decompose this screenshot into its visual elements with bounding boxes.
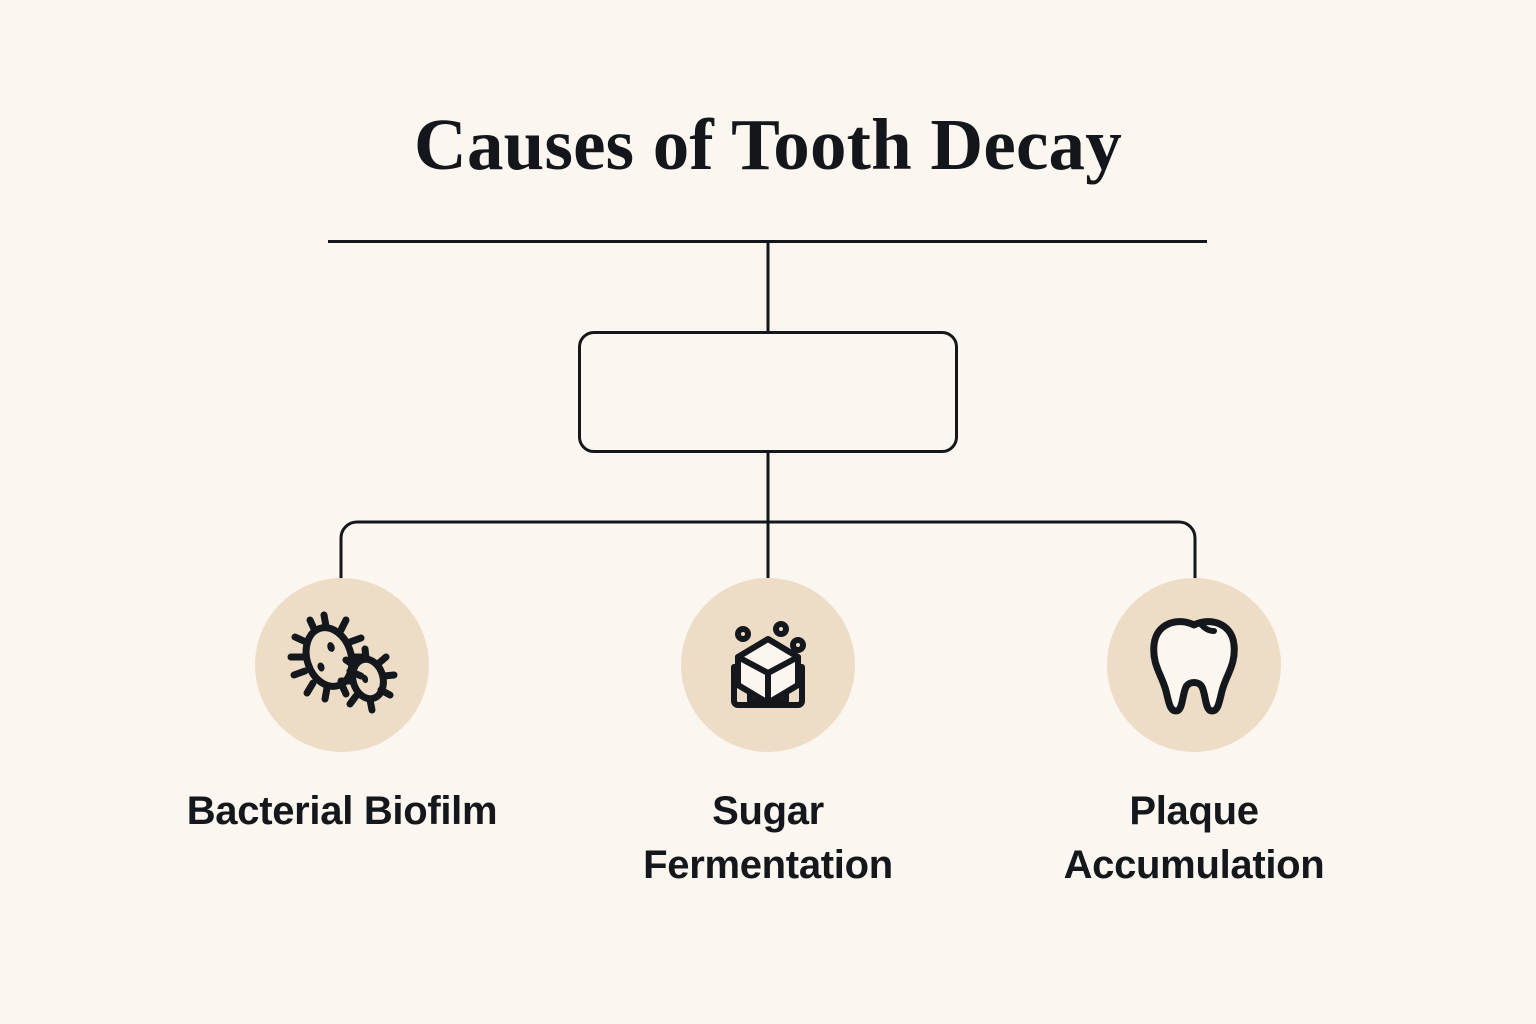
branch-right: [768, 522, 1195, 585]
branch-item-sugar-fermentation[interactable]: Sugar Fermentation: [598, 578, 938, 892]
branch-label-sugar-fermentation: Sugar Fermentation: [598, 784, 938, 892]
bacteria-icon: [286, 609, 398, 721]
branch-item-plaque-accumulation[interactable]: Plaque Accumulation: [1024, 578, 1364, 892]
icon-badge-sugar-cube[interactable]: [681, 578, 855, 752]
branch-left: [341, 522, 768, 585]
branch-label-plaque-accumulation: Plaque Accumulation: [1024, 784, 1364, 892]
tooth-icon: [1138, 609, 1250, 721]
icon-badge-tooth[interactable]: [1107, 578, 1281, 752]
branch-label-bacterial-biofilm: Bacterial Biofilm: [187, 784, 498, 838]
branch-item-bacterial-biofilm[interactable]: Bacterial Biofilm: [172, 578, 512, 838]
sugar-cube-icon: [712, 609, 824, 721]
diagram-canvas: Causes of Tooth Decay: [0, 0, 1536, 1024]
center-node-box[interactable]: [578, 331, 958, 453]
page-title: Causes of Tooth Decay: [0, 103, 1536, 187]
icon-badge-bacteria[interactable]: [255, 578, 429, 752]
